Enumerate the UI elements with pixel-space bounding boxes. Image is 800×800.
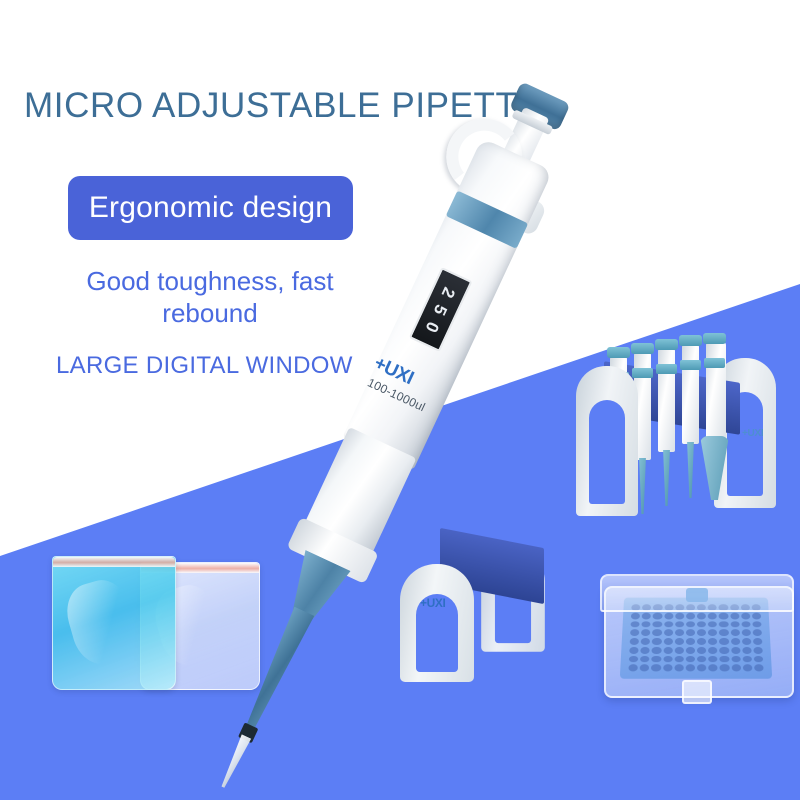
tip-box-well xyxy=(731,647,740,654)
rack-brand-logo: +UXI xyxy=(742,428,763,439)
feature-tagline: LARGE DIGITAL WINDOW xyxy=(56,352,353,380)
tip-box-well xyxy=(753,647,763,654)
tip-box-well xyxy=(708,621,717,628)
rack-pipette-band xyxy=(704,358,725,368)
tip-box-well xyxy=(752,613,761,619)
tip-box-well xyxy=(686,613,695,619)
tip-box-well xyxy=(675,638,684,645)
tip-box-well xyxy=(743,664,753,671)
tip-box-well xyxy=(630,629,639,636)
tip-box-well xyxy=(730,613,739,619)
tip-box-well xyxy=(708,656,717,663)
tip-box-well xyxy=(675,629,684,636)
tip-box-well xyxy=(719,647,728,654)
rack-pipette-cap xyxy=(655,339,678,350)
tip-box-latch xyxy=(686,588,708,602)
tip-box-well xyxy=(642,613,651,619)
tip-box-well xyxy=(719,621,728,628)
tip-box-well xyxy=(631,613,640,619)
stand-leg-front xyxy=(400,564,474,682)
tip-box-well xyxy=(630,621,639,628)
tip-box-well xyxy=(674,647,683,654)
tip-box-well xyxy=(741,629,750,636)
tip-box-well xyxy=(628,664,638,671)
rack-pipette-cap xyxy=(703,333,726,344)
tip-box-well xyxy=(674,656,683,663)
tip-box-well xyxy=(686,621,695,628)
tip-box-well xyxy=(674,664,683,671)
tip-box-well xyxy=(697,664,706,671)
rack-pipette-tip xyxy=(638,458,647,514)
tip-box-well xyxy=(653,621,662,628)
tip-box-well xyxy=(697,656,706,663)
tip-box-well xyxy=(731,638,740,645)
tip-box-well xyxy=(663,656,672,663)
rack-pipette-band xyxy=(632,368,653,378)
tip-box-well xyxy=(742,638,751,645)
tip-box-well xyxy=(663,638,672,645)
rack-pipette-3 xyxy=(658,348,675,452)
tip-box-well xyxy=(686,647,695,654)
tip-box-well xyxy=(731,664,741,671)
tip-box-well xyxy=(629,656,639,663)
ergonomic-design-badge: Ergonomic design xyxy=(68,176,353,240)
tip-box-well xyxy=(675,613,684,619)
tip-box-clip xyxy=(682,680,712,704)
tip-box-well xyxy=(730,621,739,628)
tip-box-well xyxy=(719,629,728,636)
rack-pipette-cap xyxy=(607,347,630,358)
rack-pipette-cap xyxy=(631,343,654,354)
tip-box-well xyxy=(641,647,651,654)
tip-box-well xyxy=(730,629,739,636)
bag-zip-seal xyxy=(53,557,175,567)
rack-pipette-band xyxy=(680,360,701,370)
tip-box-well xyxy=(653,613,662,619)
tip-box-well xyxy=(697,647,706,654)
tip-box-well-grid xyxy=(628,604,763,671)
tip-box-well xyxy=(720,656,729,663)
tip-box-well xyxy=(754,656,764,663)
tip-box-well xyxy=(664,613,673,619)
tip-box-well xyxy=(720,664,730,671)
tip-box-well xyxy=(641,638,650,645)
tip-box-well xyxy=(753,638,762,645)
tip-box-well xyxy=(686,664,695,671)
digit-0: 0 xyxy=(423,319,442,335)
rack-pipette-4 xyxy=(682,344,699,444)
rack-pipette-tip xyxy=(662,450,671,506)
tip-box-well xyxy=(753,629,762,636)
tip-box-well xyxy=(652,638,661,645)
tip-box-well xyxy=(663,664,673,671)
multi-pipette-rack: +UXI xyxy=(566,332,800,560)
digit-2: 2 xyxy=(439,284,458,300)
product-marketing-image: MICRO ADJUSTABLE PIPETTE Ergonomic desig… xyxy=(0,0,800,800)
tip-box-well xyxy=(629,647,639,654)
tip-box-well xyxy=(742,647,752,654)
pipette-tip-box xyxy=(600,560,796,702)
tip-box-well xyxy=(697,613,706,619)
single-pipette-stand: +UXI xyxy=(398,534,578,690)
tip-box-well xyxy=(640,664,650,671)
badge-label: Ergonomic design xyxy=(89,191,332,225)
rack-pipette-cap xyxy=(679,335,702,346)
blue-tips-bag xyxy=(52,556,176,690)
tip-box-well xyxy=(742,656,752,663)
tip-box-well xyxy=(663,647,672,654)
tip-box-well xyxy=(752,621,761,628)
tip-box-well xyxy=(664,621,673,628)
tip-box-well xyxy=(708,629,717,636)
rack-pipette-tip xyxy=(686,442,695,498)
rack-pipette-band xyxy=(656,364,677,374)
tip-box-well xyxy=(652,629,661,636)
tip-box-well xyxy=(708,638,717,645)
tip-box-well xyxy=(708,647,717,654)
tip-box-well xyxy=(630,638,639,645)
bag-sheen xyxy=(60,574,144,670)
rack-pipette-5 xyxy=(706,342,726,438)
tip-box-well xyxy=(741,621,750,628)
stand-brand-logo: +UXI xyxy=(420,596,445,610)
tip-box-well xyxy=(697,638,706,645)
tip-box-well xyxy=(664,629,673,636)
tip-box-well xyxy=(651,664,661,671)
tip-box-well xyxy=(731,656,740,663)
tip-box-well xyxy=(741,613,750,619)
tip-box-well xyxy=(686,638,695,645)
tip-box-well xyxy=(642,621,651,628)
page-title: MICRO ADJUSTABLE PIPETTE xyxy=(24,86,541,126)
rack-leg-left xyxy=(576,366,638,516)
tip-box-well xyxy=(675,621,684,628)
tip-box-well xyxy=(719,613,728,619)
tip-bags-group xyxy=(52,548,282,708)
feature-subline: Good toughness, fast rebound xyxy=(60,266,360,329)
tip-box-well xyxy=(652,656,662,663)
tip-box-well xyxy=(686,656,695,663)
tip-box-well xyxy=(754,664,764,671)
tip-box-well xyxy=(697,629,706,636)
tip-box-well xyxy=(719,638,728,645)
tip-box-well xyxy=(652,647,661,654)
tip-box-well xyxy=(697,621,706,628)
tip-box-well xyxy=(708,613,717,619)
tip-box-well xyxy=(640,656,650,663)
tip-box-well xyxy=(708,664,717,671)
digit-1: 5 xyxy=(431,302,450,318)
tip-box-well xyxy=(641,629,650,636)
tip-box-well xyxy=(686,629,695,636)
